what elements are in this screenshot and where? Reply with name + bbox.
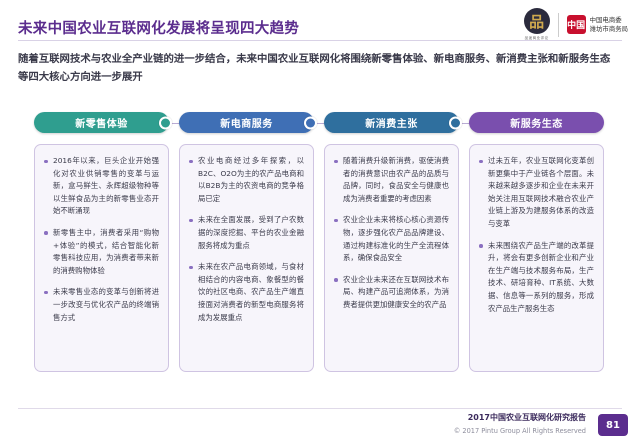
- trend-card-2: 农业电商经过多年探索，以B2C、O2O为主的农产品电商和以B2B为主的农资电商的…: [179, 144, 314, 372]
- footer-copyright: © 2017 Pintu Group All Rights Reserved: [454, 427, 586, 435]
- trend-pill-1[interactable]: 新零售体验: [34, 112, 169, 133]
- footer-divider: [18, 408, 622, 409]
- trend-column-1: 新零售体验 2016年以来，巨头企业开始强化对农业供销零售的变革与运新，盒马鲜生…: [34, 112, 169, 372]
- trend-pill-4[interactable]: 新服务生态: [469, 112, 604, 133]
- trend-pill-1-label: 新零售体验: [75, 115, 128, 130]
- list-item: 未来在全面发展，受到了户农数据的深度挖掘、平台的农业金融服务将成为重点: [189, 214, 304, 252]
- trend-column-3: 新消费主张 随着消费升级新消费，驱使消费者的消费意识由农产品的品质与品牌，同时，…: [324, 112, 459, 372]
- list-item: 新零售主中，消费者采用“购物+体验”的模式，结合智能化新零售科技应用，为消费者带…: [44, 227, 159, 277]
- list-item: 未来在农产品电商领域，与食材相结合的内容电商、象餐型的餐饮的社区电商、农产品生产…: [189, 261, 304, 324]
- trend-pill-4-label: 新服务生态: [510, 115, 563, 130]
- list-item: 2016年以来，巨头企业开始强化对农业供销零售的变革与运新，盒马鲜生、永辉超级物…: [44, 155, 159, 218]
- weifang-logo-line1: 中国电商委: [590, 16, 628, 25]
- pill-connector-dot: [304, 116, 317, 129]
- footer-report-title: 2017中国农业互联网化研究报告: [468, 412, 586, 423]
- trend-column-2: 新电商服务 农业电商经过多年探索，以B2C、O2O为主的农产品电商和以B2B为主…: [179, 112, 314, 372]
- weifang-logo-badge: 中国: [567, 15, 586, 34]
- pintu-logo-mark: 品: [524, 8, 550, 34]
- page-title: 未来中国农业互联网化发展将呈现四大趋势: [18, 17, 299, 38]
- list-item: 农业电商经过多年探索，以B2C、O2O为主的农产品电商和以B2B为主的农资电商的…: [189, 155, 304, 205]
- trend-card-3-list: 随着消费升级新消费，驱使消费者的消费意识由农产品的品质与品牌，同时，食品安全与健…: [334, 155, 449, 312]
- footer: 2017中国农业互联网化研究报告 © 2017 Pintu Group All …: [0, 408, 640, 442]
- list-item: 农业企业未来还在互联网技术布局、构建产品可追溯体系，为消费者提供更加健康安全的农…: [334, 274, 449, 312]
- trend-pill-2[interactable]: 新电商服务: [179, 112, 314, 133]
- weifang-logo: 中国 中国电商委 潍坊市商务局: [567, 15, 628, 34]
- weifang-logo-text: 中国电商委 潍坊市商务局: [590, 16, 628, 34]
- pintu-logo-caption: 品途商业评论: [525, 36, 549, 41]
- trend-column-4: 新服务生态 过未五年，农业互联网化变革创新更集中于产业链各个层面。未来越来越多逐…: [469, 112, 604, 372]
- list-item: 未来零售业态的变革与创新将进一步改变与优化农产品的终端销售方式: [44, 286, 159, 324]
- trend-card-2-list: 农业电商经过多年探索，以B2C、O2O为主的农产品电商和以B2B为主的农资电商的…: [189, 155, 304, 324]
- trend-pill-3-label: 新消费主张: [365, 115, 418, 130]
- trend-card-4-list: 过未五年，农业互联网化变革创新更集中于产业链各个层面。未来越来越多逐步和企业在未…: [479, 155, 594, 315]
- trend-pill-2-label: 新电商服务: [220, 115, 273, 130]
- pill-connector-dot: [449, 116, 462, 129]
- trend-card-1: 2016年以来，巨头企业开始强化对农业供销零售的变革与运新，盒马鲜生、永辉超级物…: [34, 144, 169, 372]
- trend-card-4: 过未五年，农业互联网化变革创新更集中于产业链各个层面。未来越来越多逐步和企业在未…: [469, 144, 604, 372]
- page-number-badge: 81: [598, 414, 628, 436]
- list-item: 农业企业未来将核心核心资源传物，逐步强化农产品品牌建设、通过构建标准化的生产全流…: [334, 214, 449, 264]
- lead-paragraph: 随着互联网技术与农业全产业链的进一步结合，未来中国农业互联网化将围绕新零售体验、…: [18, 50, 618, 86]
- logo-divider: [558, 13, 559, 37]
- slide: 未来中国农业互联网化发展将呈现四大趋势 品 品途商业评论 中国 中国电商委 潍坊…: [0, 0, 640, 442]
- list-item: 随着消费升级新消费，驱使消费者的消费意识由农产品的品质与品牌，同时，食品安全与健…: [334, 155, 449, 205]
- list-item: 未来围绕农产品生产端的改革提升，将会有更多创新企业和产业在生产端与技术服务布局，…: [479, 240, 594, 316]
- pill-connector-dot: [159, 116, 172, 129]
- pintu-logo: 品 品途商业评论: [524, 8, 550, 41]
- trend-card-3: 随着消费升级新消费，驱使消费者的消费意识由农产品的品质与品牌，同时，食品安全与健…: [324, 144, 459, 372]
- trend-card-1-list: 2016年以来，巨头企业开始强化对农业供销零售的变革与运新，盒马鲜生、永辉超级物…: [44, 155, 159, 324]
- trend-columns: 新零售体验 2016年以来，巨头企业开始强化对农业供销零售的变革与运新，盒马鲜生…: [34, 112, 610, 370]
- trend-pill-3[interactable]: 新消费主张: [324, 112, 459, 133]
- logo-group: 品 品途商业评论 中国 中国电商委 潍坊市商务局: [524, 8, 628, 41]
- list-item: 过未五年，农业互联网化变革创新更集中于产业链各个层面。未来越来越多逐步和企业在未…: [479, 155, 594, 231]
- weifang-logo-line2: 潍坊市商务局: [590, 25, 628, 34]
